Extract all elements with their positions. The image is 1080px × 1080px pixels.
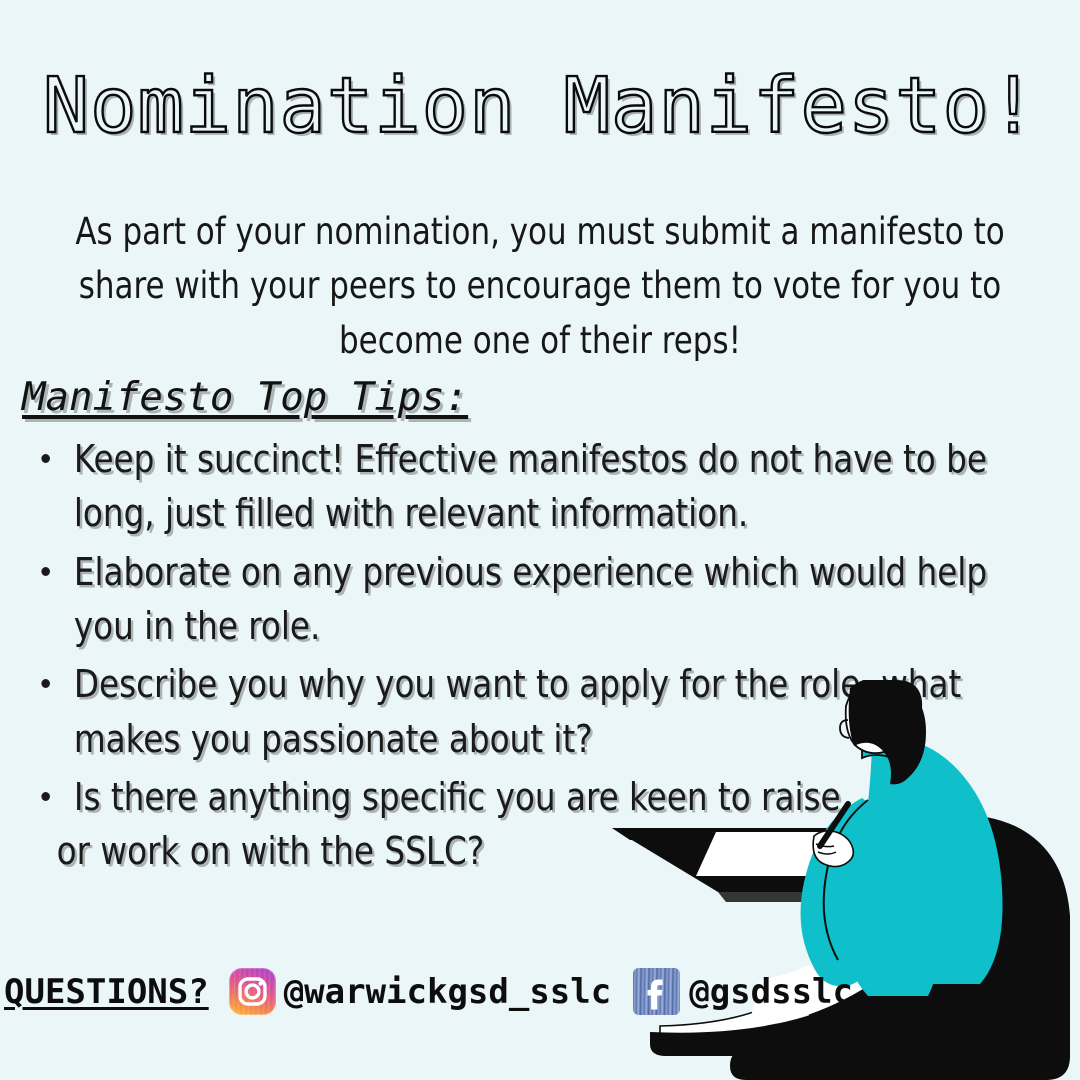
tip-text: Elaborate on any previous experience whi…	[74, 550, 987, 648]
facebook-handle[interactable]: @gsdsslc	[689, 972, 853, 1012]
list-item: Keep it succinct! Effective manifestos d…	[28, 432, 1029, 541]
bullet-dot-icon	[41, 679, 50, 688]
list-item: Elaborate on any previous experience whi…	[28, 545, 1029, 654]
bullet-dot-icon	[41, 454, 50, 463]
questions-label: QUESTIONS?	[4, 972, 209, 1012]
hair-bun-shape	[874, 680, 922, 726]
footer: QUESTIONS? @warwickgsd_sslc @gsdsslc	[4, 968, 853, 1015]
instagram-handle[interactable]: @warwickgsd_sslc	[284, 972, 612, 1012]
bullet-dot-icon	[41, 792, 50, 801]
tip-text: Keep it succinct! Effective manifestos d…	[74, 437, 987, 535]
page-title: Nomination Manifesto!	[0, 68, 1080, 145]
poster-canvas: Nomination Manifesto! As part of your no…	[0, 0, 1080, 1080]
intro-paragraph: As part of your nomination, you must sub…	[64, 205, 1016, 368]
tips-heading: Manifesto Top Tips:	[22, 378, 468, 417]
person-writing-at-desk-illustration	[610, 680, 1080, 1080]
instagram-icon[interactable]	[229, 968, 276, 1015]
bullet-dot-icon	[41, 567, 50, 576]
facebook-icon[interactable]	[633, 968, 680, 1015]
